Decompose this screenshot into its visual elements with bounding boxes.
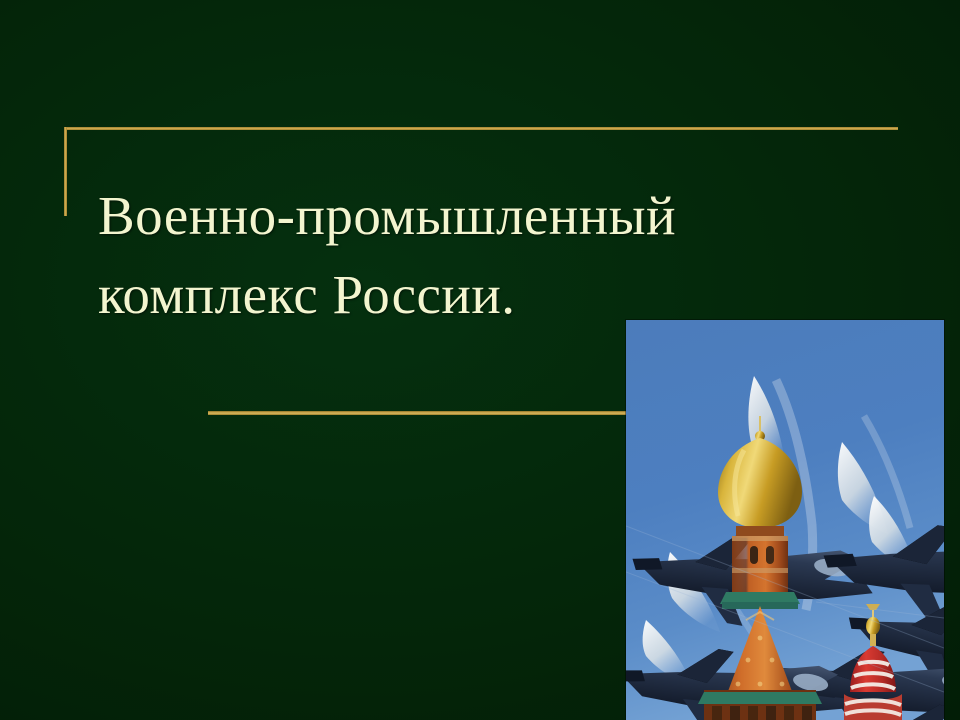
presentation-slide: Военно-промышленный комплекс России.: [0, 0, 960, 720]
page-title: Военно-промышленный комплекс России.: [98, 176, 798, 334]
photo-artwork: [626, 320, 944, 720]
title-line-1: Военно-промышленный: [98, 176, 798, 255]
corner-bracket-left-line: [64, 127, 67, 216]
horizontal-accent-rule: [208, 411, 656, 415]
corner-bracket-top-line: [64, 127, 898, 130]
title-photo: [626, 320, 944, 720]
cathedral-base: [698, 690, 822, 720]
